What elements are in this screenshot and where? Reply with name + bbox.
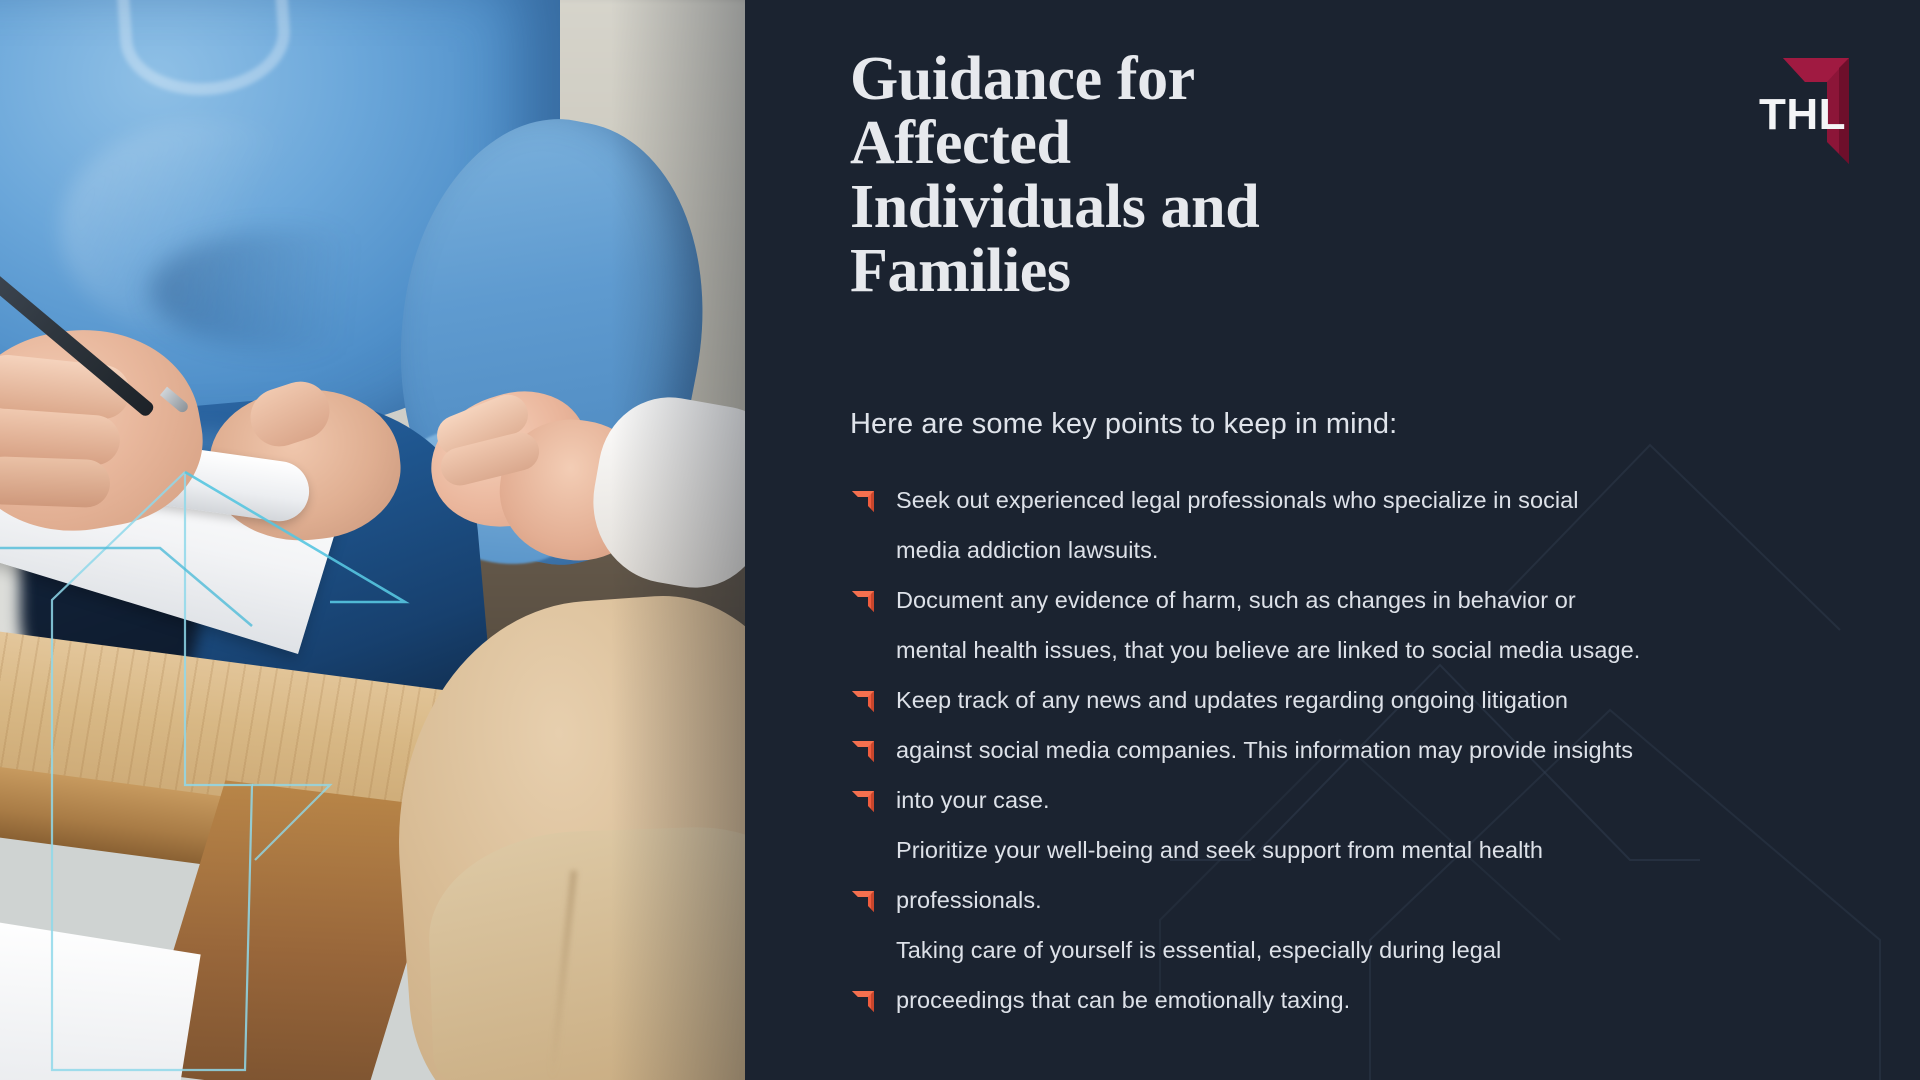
photo-vignette (0, 0, 745, 1080)
list-item: professionals. (850, 875, 1890, 925)
list-item-text: proceedings that can be emotionally taxi… (896, 987, 1350, 1014)
list-item-text: Taking care of yourself is essential, es… (896, 937, 1501, 964)
bullet-arrow-icon (850, 785, 896, 815)
bullet-arrow-icon (850, 985, 896, 1015)
list-item-text: Document any evidence of harm, such as c… (896, 587, 1576, 614)
counseling-photo (0, 0, 745, 1080)
headline-line-3: Individuals and (850, 173, 1259, 241)
key-points-list: Seek out experienced legal professionals… (850, 475, 1890, 1025)
list-item: Taking care of yourself is essential, es… (850, 925, 1890, 975)
bullet-arrow-icon (850, 585, 896, 615)
bullet-spacer (850, 635, 896, 665)
list-item: against social media companies. This inf… (850, 725, 1890, 775)
thl-logo[interactable]: THL (1753, 36, 1865, 164)
bullet-spacer (850, 835, 896, 865)
list-item-text: mental health issues, that you believe a… (896, 637, 1640, 664)
headline-line-1: Guidance for (850, 45, 1195, 113)
headline-line-2: Affected (850, 109, 1071, 177)
list-item-text: media addiction lawsuits. (896, 537, 1159, 564)
list-item: Keep track of any news and updates regar… (850, 675, 1890, 725)
list-item: into your case. (850, 775, 1890, 825)
list-item: Document any evidence of harm, such as c… (850, 575, 1890, 625)
bullet-spacer (850, 535, 896, 565)
lede-text: Here are some key points to keep in mind… (850, 408, 1397, 441)
list-item-text: into your case. (896, 787, 1050, 814)
list-item-text: against social media companies. This inf… (896, 737, 1633, 764)
logo-wordmark: THL (1759, 90, 1846, 140)
list-item-text: Seek out experienced legal professionals… (896, 487, 1579, 514)
bullet-arrow-icon (850, 735, 896, 765)
list-item: proceedings that can be emotionally taxi… (850, 975, 1890, 1025)
bullet-arrow-icon (850, 885, 896, 915)
list-item-text: professionals. (896, 887, 1042, 914)
list-item: Seek out experienced legal professionals… (850, 475, 1890, 525)
list-item: Prioritize your well-being and seek supp… (850, 825, 1890, 875)
bullet-spacer (850, 935, 896, 965)
slide-root: THL Guidance for Affected Individuals an… (0, 0, 1920, 1080)
photo-panel (0, 0, 745, 1080)
list-item-text: Prioritize your well-being and seek supp… (896, 837, 1543, 864)
headline-line-4: Families (850, 237, 1071, 305)
bullet-arrow-icon (850, 685, 896, 715)
list-item: media addiction lawsuits. (850, 525, 1890, 575)
bullet-arrow-icon (850, 485, 896, 515)
list-item: mental health issues, that you believe a… (850, 625, 1890, 675)
page-title: Guidance for Affected Individuals and Fa… (850, 48, 1490, 303)
content-panel: THL Guidance for Affected Individuals an… (745, 0, 1920, 1080)
list-item-text: Keep track of any news and updates regar… (896, 687, 1568, 714)
